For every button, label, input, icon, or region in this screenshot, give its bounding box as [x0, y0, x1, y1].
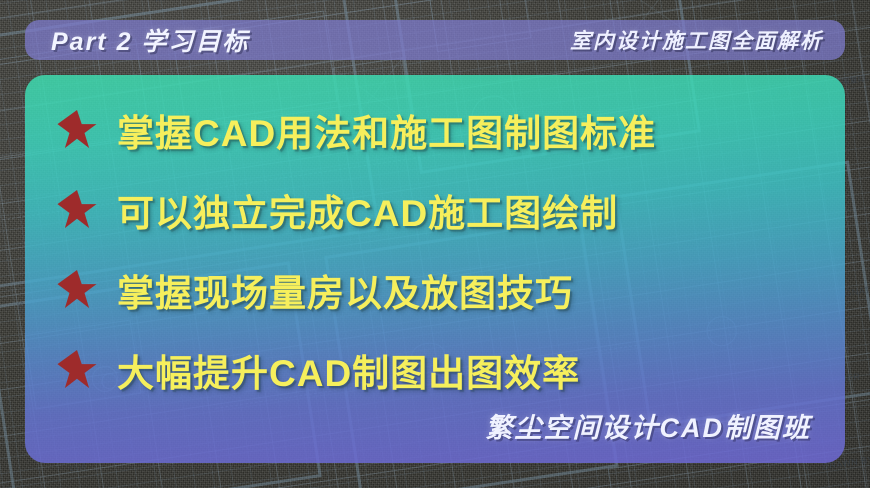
slide-canvas: 1265 2215 3385 1980 505 600 900 300 1516…: [0, 0, 870, 488]
list-item: 掌握现场量房以及放图技巧: [57, 261, 573, 319]
star-icon: [57, 270, 97, 310]
star-icon: [57, 110, 97, 150]
list-item: 掌握CAD用法和施工图制图标准: [57, 101, 656, 159]
list-item-label: 大幅提升CAD制图出图效率: [117, 343, 580, 397]
list-item-label: 掌握现场量房以及放图技巧: [117, 263, 573, 317]
objectives-list: 掌握CAD用法和施工图制图标准 可以独立完成CAD施工图绘制 掌握现场量房以及放…: [25, 75, 845, 463]
list-item-label: 掌握CAD用法和施工图制图标准: [117, 103, 656, 157]
footer-signature: 繁尘空间设计CAD制图班: [486, 406, 812, 445]
course-title: 室内设计施工图全面解析: [570, 25, 823, 55]
star-icon: [57, 350, 97, 390]
header-content: Part 2 学习目标 室内设计施工图全面解析: [25, 20, 845, 60]
list-item: 可以独立完成CAD施工图绘制: [57, 181, 618, 239]
list-item: 大幅提升CAD制图出图效率: [57, 341, 580, 399]
part-title: Part 2 学习目标: [51, 22, 249, 58]
star-icon: [57, 190, 97, 230]
list-item-label: 可以独立完成CAD施工图绘制: [117, 183, 618, 237]
header-bar: Part 2 学习目标 室内设计施工图全面解析: [25, 20, 845, 60]
objectives-panel: 掌握CAD用法和施工图制图标准 可以独立完成CAD施工图绘制 掌握现场量房以及放…: [25, 75, 845, 463]
